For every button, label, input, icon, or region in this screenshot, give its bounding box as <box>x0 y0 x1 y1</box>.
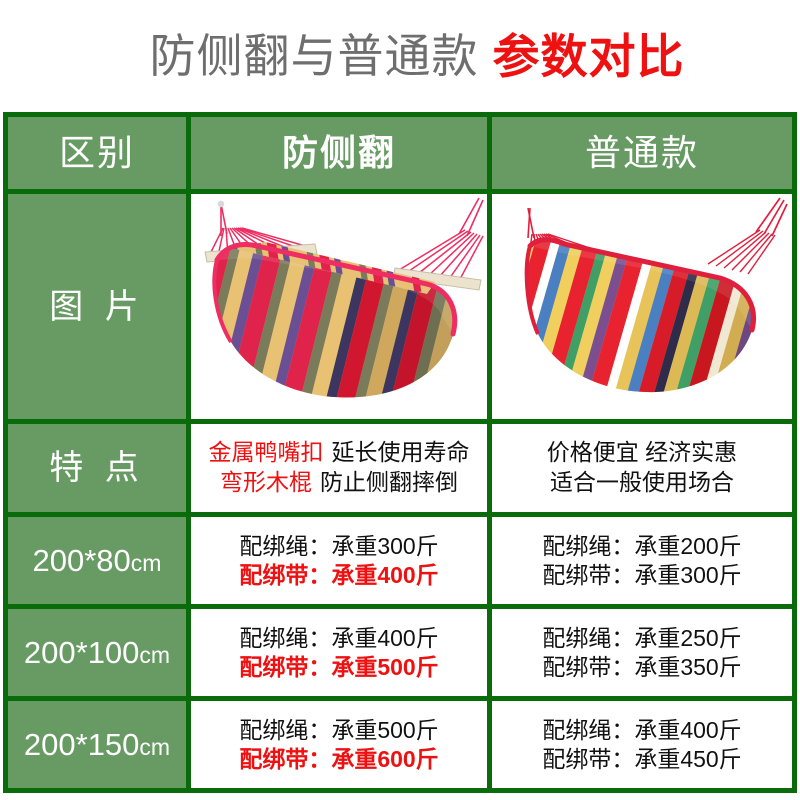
spec-line-rope: 配绑绳：承重400斤 <box>542 717 741 743</box>
size-unit: cm <box>131 550 162 576</box>
spec-list: 配绑绳：承重250斤 配绑带：承重350斤 <box>542 625 741 681</box>
cell-image-antiflip <box>191 194 487 419</box>
table-row-size-200x100: 200*100cm 配绑绳：承重400斤 配绑带：承重500斤 配绑绳：承重25… <box>8 609 792 696</box>
feature-line: 金属鸭嘴扣 延长使用寿命 <box>209 440 470 466</box>
feature-text: 适合一般使用场合 <box>550 470 734 496</box>
header-label-antiflip: 防侧翻 <box>282 135 396 171</box>
row-label-size-200x150: 200*150cm <box>8 701 186 788</box>
spec-list: 配绑绳：承重200斤 配绑带：承重300斤 <box>542 533 741 589</box>
cell-spec-standard-200x100: 配绑绳：承重250斤 配绑带：承重350斤 <box>492 609 792 696</box>
spec-line-strap: 配绑带：承重300斤 <box>542 562 741 588</box>
spec-line-rope: 配绑绳：承重300斤 <box>239 533 438 559</box>
spec-line-rope: 配绑绳：承重200斤 <box>542 533 741 559</box>
size-number: 200*80 <box>33 543 131 578</box>
table-row-size-200x150: 200*150cm 配绑绳：承重500斤 配绑带：承重600斤 配绑绳：承重40… <box>8 701 792 788</box>
feature-line: 弯形木棍 防止侧翻摔倒 <box>209 470 470 496</box>
spec-line-strap: 配绑带：承重350斤 <box>542 654 741 680</box>
spec-line-strap: 配绑带：承重500斤 <box>239 654 438 680</box>
page-title-accent: 参数对比 <box>493 33 685 80</box>
spec-line-strap: 配绑带：承重450斤 <box>542 746 741 772</box>
spec-list: 配绑绳：承重400斤 配绑带：承重450斤 <box>542 717 741 773</box>
cell-image-standard <box>492 194 792 419</box>
row-label-text-features: 特 点 <box>49 451 144 485</box>
cell-spec-antiflip-200x100: 配绑绳：承重400斤 配绑带：承重500斤 <box>191 609 487 696</box>
hammock-with-spreader-bar-image <box>191 194 487 419</box>
feature-text: 价格便宜 经济实惠 <box>547 440 737 466</box>
row-label-size-200x80: 200*80cm <box>8 517 186 604</box>
comparison-table: 区别 防侧翻 普通款 图 片 <box>3 112 797 793</box>
row-label-features: 特 点 <box>8 424 186 512</box>
row-label-size-200x100: 200*100cm <box>8 609 186 696</box>
hammock-plain-image <box>492 194 792 419</box>
cell-features-antiflip: 金属鸭嘴扣 延长使用寿命 弯形木棍 防止侧翻摔倒 <box>191 424 487 512</box>
spec-list: 配绑绳：承重400斤 配绑带：承重500斤 <box>239 625 438 681</box>
page-title: 防侧翻与普通款 <box>150 33 479 79</box>
header-label-standard: 普通款 <box>585 135 699 171</box>
feature-list-standard: 价格便宜 经济实惠 适合一般使用场合 <box>547 440 737 496</box>
feature-highlight: 弯形木棍 <box>220 470 312 496</box>
size-number: 200*100 <box>24 635 140 670</box>
row-label-text-size: 200*80cm <box>33 545 162 576</box>
row-label-text-image: 图 片 <box>49 290 144 324</box>
cell-spec-antiflip-200x150: 配绑绳：承重500斤 配绑带：承重600斤 <box>191 701 487 788</box>
feature-list-antiflip: 金属鸭嘴扣 延长使用寿命 弯形木棍 防止侧翻摔倒 <box>209 440 470 496</box>
spec-line-rope: 配绑绳：承重400斤 <box>239 625 438 651</box>
table-header-row: 区别 防侧翻 普通款 <box>8 117 792 189</box>
header-label-difference: 区别 <box>59 135 135 171</box>
spec-line-strap: 配绑带：承重600斤 <box>239 746 438 772</box>
header-cell-difference: 区别 <box>8 117 186 189</box>
size-unit: cm <box>139 642 170 668</box>
spec-line-rope: 配绑绳：承重250斤 <box>542 625 741 651</box>
feature-highlight: 金属鸭嘴扣 <box>209 440 324 466</box>
feature-text: 防止侧翻摔倒 <box>320 470 458 496</box>
table-row-features: 特 点 金属鸭嘴扣 延长使用寿命 弯形木棍 防止侧翻摔倒 价格便宜 经济实惠 <box>8 424 792 512</box>
spec-list: 配绑绳：承重500斤 配绑带：承重600斤 <box>239 717 438 773</box>
table-row-size-200x80: 200*80cm 配绑绳：承重300斤 配绑带：承重400斤 配绑绳：承重200… <box>8 517 792 604</box>
header-cell-antiflip: 防侧翻 <box>191 117 487 189</box>
cell-spec-standard-200x150: 配绑绳：承重400斤 配绑带：承重450斤 <box>492 701 792 788</box>
spec-line-strap: 配绑带：承重400斤 <box>239 562 438 588</box>
table-row-image: 图 片 <box>8 194 792 419</box>
feature-line: 适合一般使用场合 <box>547 470 737 496</box>
cell-features-standard: 价格便宜 经济实惠 适合一般使用场合 <box>492 424 792 512</box>
row-label-text-size: 200*150cm <box>24 729 170 760</box>
header-cell-standard: 普通款 <box>492 117 792 189</box>
cell-spec-antiflip-200x80: 配绑绳：承重300斤 配绑带：承重400斤 <box>191 517 487 604</box>
page-title-bar: 防侧翻与普通款 参数对比 <box>0 0 800 112</box>
cell-spec-standard-200x80: 配绑绳：承重200斤 配绑带：承重300斤 <box>492 517 792 604</box>
spec-line-rope: 配绑绳：承重500斤 <box>239 717 438 743</box>
size-unit: cm <box>139 734 170 760</box>
feature-text: 延长使用寿命 <box>332 440 470 466</box>
row-label-image: 图 片 <box>8 194 186 419</box>
row-label-text-size: 200*100cm <box>24 637 170 668</box>
size-number: 200*150 <box>24 727 140 762</box>
feature-line: 价格便宜 经济实惠 <box>547 440 737 466</box>
spec-list: 配绑绳：承重300斤 配绑带：承重400斤 <box>239 533 438 589</box>
